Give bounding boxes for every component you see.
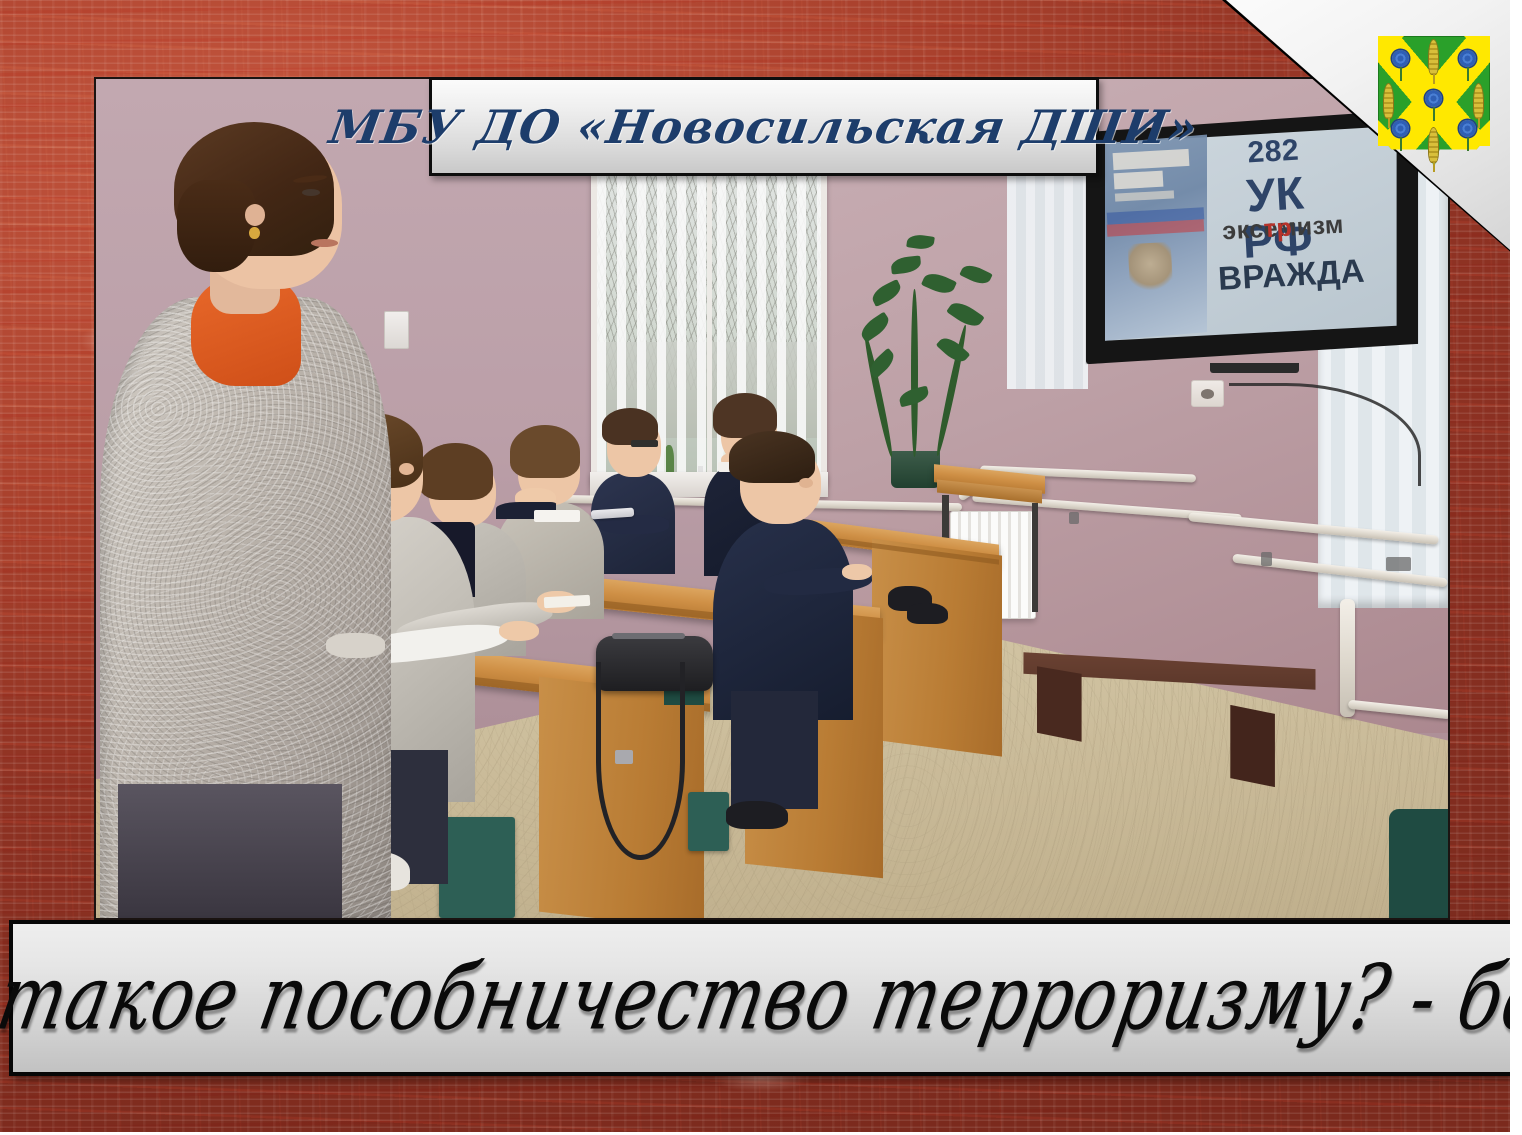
- student-hair: [729, 431, 816, 483]
- wall-socket: [1191, 380, 1224, 407]
- window-mullion: [707, 135, 712, 479]
- caption-banner: Что такое пособничество терроризму? - бе…: [9, 920, 1518, 1076]
- student-shoe: [907, 603, 948, 625]
- cornflower-icon: [1392, 50, 1409, 67]
- tv-coat-of-arms-emblem: [1128, 241, 1174, 295]
- teacher-lips: [311, 239, 338, 247]
- pipe-clamp: [1069, 512, 1078, 524]
- teacher-ear: [245, 204, 265, 226]
- teacher-earring: [249, 227, 260, 240]
- teacher-hand: [326, 633, 385, 658]
- chair: [688, 792, 729, 851]
- title-banner: МБУ ДО «Новосильская ДШИ»: [429, 77, 1099, 176]
- wheat-ear-icon: [1384, 84, 1393, 118]
- student-ear: [399, 463, 414, 475]
- student-body: [713, 519, 854, 720]
- student-collar: [534, 510, 580, 522]
- wheat-ear-icon: [1474, 84, 1483, 118]
- student-hair: [418, 443, 494, 500]
- cornflower-icon: [1459, 50, 1476, 67]
- wheat-ear-icon: [1429, 40, 1438, 74]
- teacher-skirt: [118, 784, 342, 918]
- student-shoe: [726, 801, 788, 830]
- logo-corner: [1222, 0, 1522, 262]
- coat-of-arms-icon: [1378, 36, 1490, 168]
- bench-leg: [1037, 666, 1082, 742]
- shoulder-bag-buckle: [615, 750, 633, 764]
- tv-book-title-line-2: [1114, 171, 1163, 190]
- desk-mid-side: [872, 539, 1002, 757]
- wheat-ear-icon: [1429, 128, 1438, 162]
- shoulder-bag-zipper: [612, 633, 685, 640]
- right-margin: [1510, 0, 1522, 1135]
- tv-stand: [1210, 363, 1299, 374]
- desk-far-leg: [1032, 503, 1039, 612]
- pipe-clamp: [1386, 557, 1412, 571]
- student-glasses: [631, 440, 658, 448]
- slide-root: 282 УК РФ экстремизм ВРАЖДА: [0, 0, 1522, 1135]
- student-legs: [731, 691, 818, 808]
- student-hand: [842, 564, 872, 580]
- plant-stem: [911, 289, 918, 457]
- cornflower-icon: [1392, 120, 1409, 137]
- chair: [439, 817, 515, 918]
- wall-switch: [384, 311, 409, 350]
- teacher-hair-back: [177, 180, 255, 272]
- bench-leg: [1230, 705, 1275, 787]
- shoulder-bag-strap: [596, 662, 684, 860]
- organization-title: МБУ ДО «Новосильская ДШИ»: [326, 100, 1202, 154]
- paper-on-desk: [543, 595, 589, 608]
- student-hand: [499, 621, 540, 641]
- student-hair: [510, 425, 580, 479]
- heating-pipe-vertical: [1340, 599, 1355, 716]
- chair-right: [1389, 809, 1449, 918]
- plant-pot: [891, 451, 940, 488]
- cornflower-icon: [1425, 90, 1442, 107]
- event-caption: Что такое пособничество терроризму? - бе…: [0, 946, 1522, 1051]
- pipe-clamp: [1261, 552, 1272, 565]
- cornflower-icon: [1459, 120, 1476, 137]
